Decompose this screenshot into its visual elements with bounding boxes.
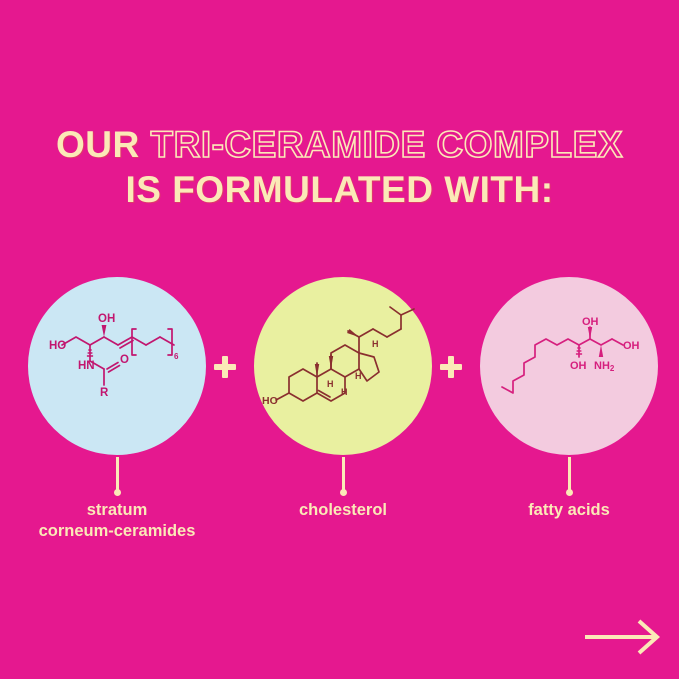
connector-line-3	[568, 457, 571, 493]
ingredient-caption-ceramide: stratum corneum-ceramides	[0, 500, 237, 542]
ingredient-caption-cholesterol: cholesterol	[223, 500, 463, 521]
connector-line-1	[116, 457, 119, 493]
atom-label-oh: OH	[98, 313, 115, 325]
stereo-h-2: H	[341, 387, 348, 397]
atom-label-o: O	[120, 354, 129, 366]
atom-label-oh-right: OH	[623, 340, 640, 352]
connector-line-2	[342, 457, 345, 493]
ingredient-circle-cholesterol: HO H H H H	[254, 277, 432, 455]
ingredient-caption-fatty-acids: fatty acids	[449, 500, 679, 521]
stereo-h-1: H	[327, 379, 334, 389]
atom-label-ho: HO	[49, 340, 66, 352]
stereo-h-4: H	[372, 339, 379, 349]
stereo-wedges	[315, 329, 359, 377]
page-title: OUR TRI-CERAMIDE COMPLEX IS FORMULATED W…	[0, 126, 679, 208]
headline-outline-text: TRI-CERAMIDE COMPLEX	[151, 124, 624, 165]
headline-word-our: OUR	[56, 124, 151, 165]
atom-label-oh-top: OH	[582, 316, 599, 328]
poster-canvas: OUR TRI-CERAMIDE COMPLEX IS FORMULATED W…	[0, 0, 679, 679]
ingredient-row: HO OH HN O R 6	[0, 277, 679, 457]
ceramide-structure-icon: HO OH HN O R 6	[28, 277, 206, 455]
atom-label-r: R	[100, 387, 109, 399]
stereo-h-3: H	[355, 371, 362, 381]
ingredient-circle-ceramide: HO OH HN O R 6	[28, 277, 206, 455]
arrow-right-icon	[583, 619, 663, 655]
plus-operator-2	[440, 356, 462, 378]
atom-label-ho: HO	[262, 395, 278, 407]
atom-label-hn: HN	[78, 360, 95, 372]
next-arrow-icon[interactable]	[583, 619, 663, 655]
ingredient-circle-fatty-acids: OH OH NH2 OH	[480, 277, 658, 455]
phytosphingosine-structure-icon: OH OH NH2 OH	[480, 277, 658, 455]
headline-line-1: OUR TRI-CERAMIDE COMPLEX	[0, 126, 679, 163]
cholesterol-structure-icon: HO H H H H	[254, 277, 432, 455]
plus-operator-1	[214, 356, 236, 378]
wedge-oh	[102, 325, 107, 337]
atom-label-nh2: NH2	[594, 360, 615, 373]
atom-label-subscript-6: 6	[174, 352, 179, 361]
headline-line-2: IS FORMULATED WITH:	[0, 171, 679, 208]
atom-label-oh-left: OH	[570, 360, 587, 372]
